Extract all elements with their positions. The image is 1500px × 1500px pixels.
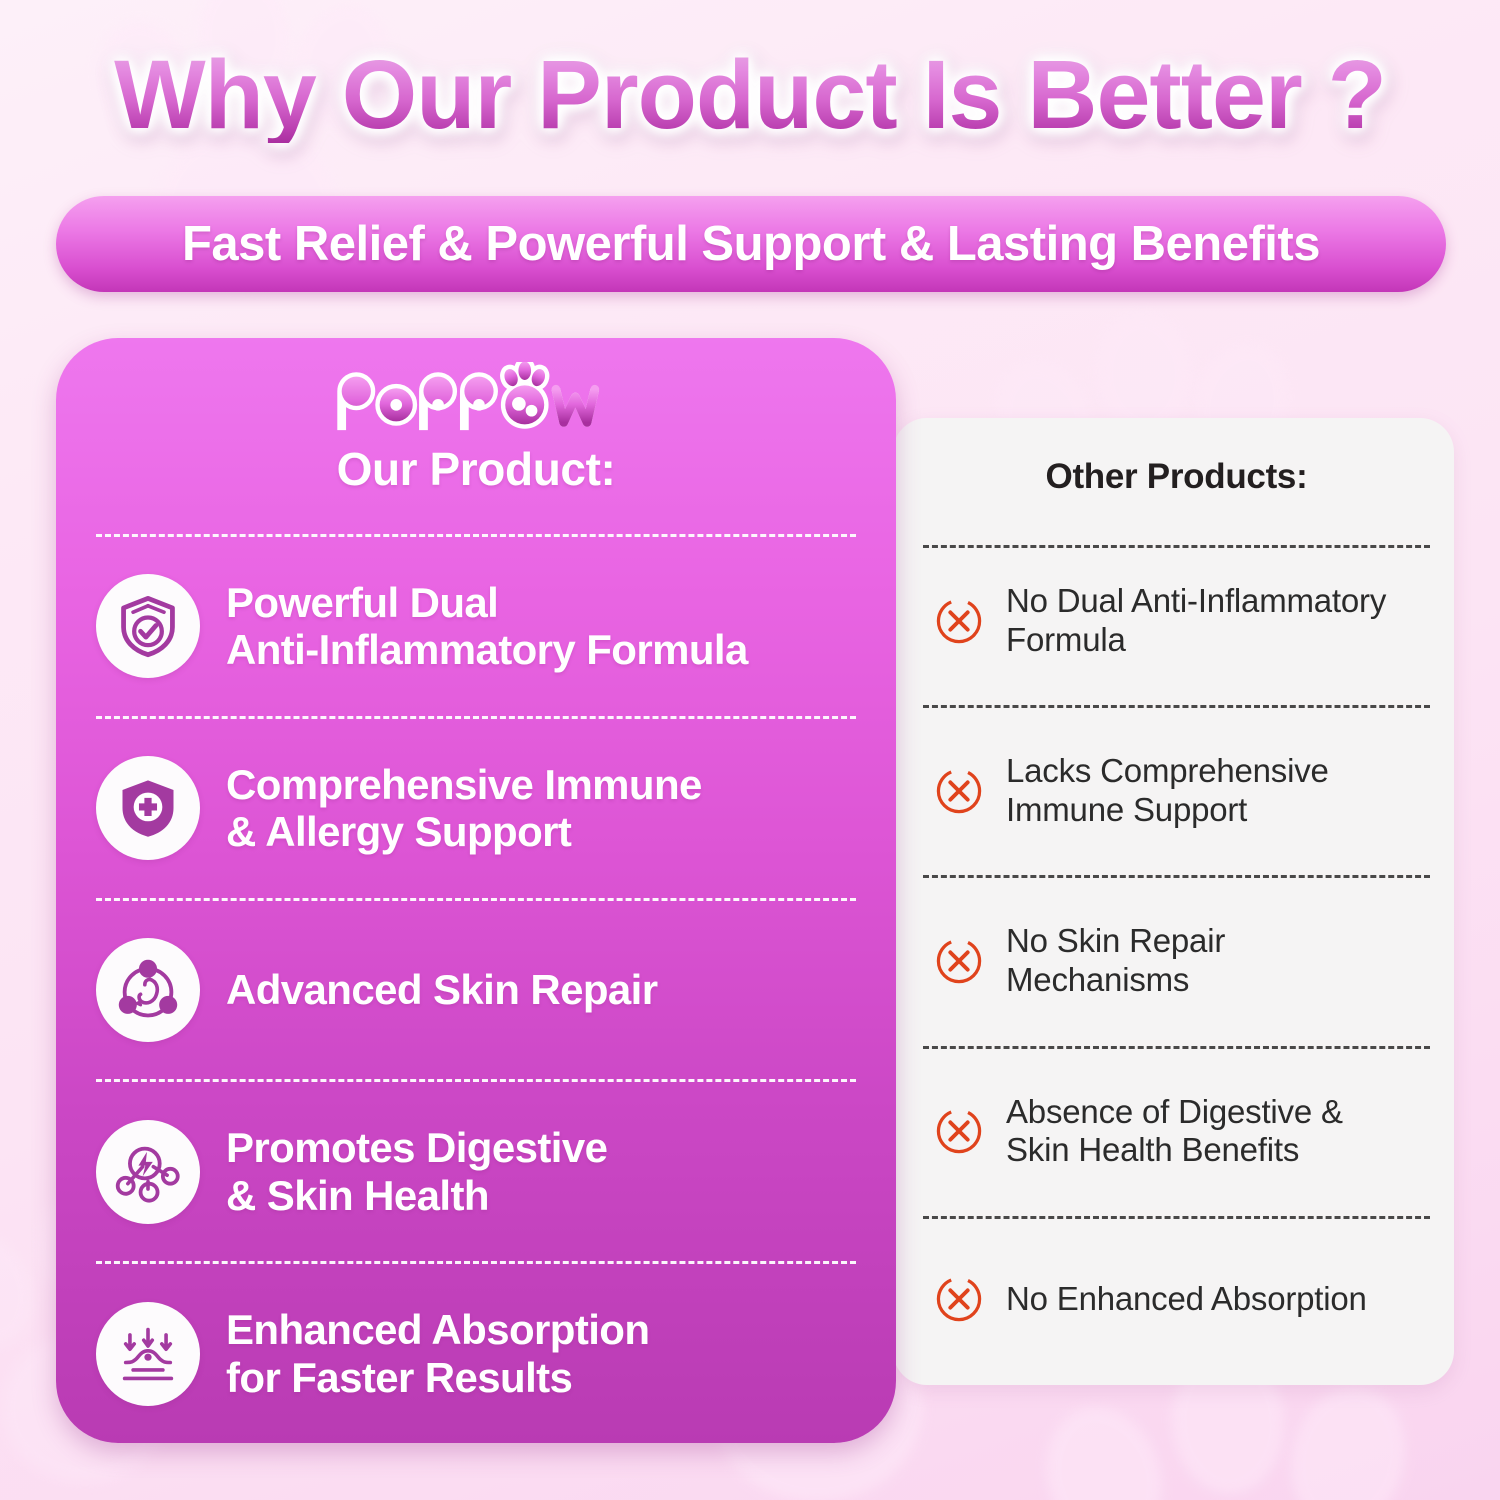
page-title: Why Our Product Is Better ? bbox=[0, 46, 1500, 143]
divider bbox=[923, 1216, 1430, 1219]
list-item: No Skin Repair Mechanisms bbox=[929, 922, 1424, 999]
list-item-label: Absence of Digestive & Skin Health Benef… bbox=[1006, 1093, 1343, 1170]
circle-x-icon bbox=[933, 1105, 985, 1157]
list-item: Powerful Dual Anti-Inflammatory Formula bbox=[96, 537, 856, 716]
our-product-icon bbox=[96, 938, 200, 1042]
list-item: Advanced Skin Repair bbox=[96, 901, 856, 1080]
divider bbox=[923, 875, 1430, 878]
list-item-line2: Anti-Inflammatory Formula bbox=[226, 626, 748, 673]
circle-x-icon bbox=[933, 935, 985, 987]
list-item-line2: Skin Health Benefits bbox=[1006, 1131, 1343, 1170]
circle-x-icon bbox=[933, 1273, 985, 1325]
list-item: Absence of Digestive & Skin Health Benef… bbox=[929, 1093, 1424, 1170]
list-item-line1: Powerful Dual bbox=[226, 579, 748, 626]
list-item-label: No Enhanced Absorption bbox=[1006, 1280, 1367, 1319]
our-product-icon bbox=[96, 756, 200, 860]
subtitle-text: Fast Relief & Powerful Support & Lasting… bbox=[182, 216, 1320, 272]
list-item-label: Lacks Comprehensive Immune Support bbox=[1006, 752, 1329, 829]
list-item-line1: Comprehensive Immune bbox=[226, 761, 702, 808]
our-product-card: Our Product: Powerful Dual Anti-In bbox=[56, 338, 896, 1443]
list-item-label: Powerful Dual Anti-Inflammatory Formula bbox=[226, 579, 748, 674]
circle-x-icon bbox=[933, 595, 985, 647]
our-product-icon bbox=[96, 1120, 200, 1224]
molecule-lightning-icon bbox=[114, 1138, 182, 1206]
divider bbox=[96, 534, 856, 537]
list-item-line2: & Allergy Support bbox=[226, 808, 702, 855]
comparison-infographic: Why Our Product Is Better ? Fast Relief … bbox=[0, 0, 1500, 1500]
list-item-line2: for Faster Results bbox=[226, 1354, 649, 1401]
our-product-title: Our Product: bbox=[96, 442, 856, 496]
our-product-list: Powerful Dual Anti-Inflammatory Formula … bbox=[96, 537, 856, 1443]
divider bbox=[923, 1046, 1430, 1049]
list-item-line2: Formula bbox=[1006, 621, 1386, 660]
list-item-line1: Enhanced Absorption bbox=[226, 1306, 649, 1353]
list-item: Enhanced Absorption for Faster Results bbox=[96, 1264, 856, 1443]
list-item-label: No Skin Repair Mechanisms bbox=[1006, 922, 1225, 999]
list-item-line1: Lacks Comprehensive bbox=[1006, 752, 1329, 791]
divider bbox=[923, 545, 1430, 548]
brand-logo bbox=[96, 362, 856, 436]
list-item-line1: Absence of Digestive & bbox=[1006, 1093, 1343, 1132]
list-item-line1: Promotes Digestive bbox=[226, 1124, 607, 1171]
list-item: Lacks Comprehensive Immune Support bbox=[929, 752, 1424, 829]
poppaw-logo-icon bbox=[330, 362, 622, 436]
list-item-line1: No Dual Anti-Inflammatory bbox=[1006, 582, 1386, 621]
absorption-arrows-icon bbox=[114, 1320, 182, 1388]
shield-check-icon bbox=[114, 592, 182, 660]
list-item-label: Promotes Digestive & Skin Health bbox=[226, 1124, 607, 1219]
divider bbox=[96, 898, 856, 901]
molecule-stomach-icon bbox=[114, 956, 182, 1024]
divider bbox=[96, 1079, 856, 1082]
list-item: No Dual Anti-Inflammatory Formula bbox=[929, 582, 1424, 659]
list-item-label: Advanced Skin Repair bbox=[226, 966, 657, 1013]
other-products-card: Other Products: No Dual Anti-Inflammator… bbox=[893, 418, 1454, 1385]
list-item-label: Enhanced Absorption for Faster Results bbox=[226, 1306, 649, 1401]
divider bbox=[96, 1261, 856, 1264]
list-item-line2: Immune Support bbox=[1006, 791, 1329, 830]
list-item-line1: No Skin Repair bbox=[1006, 922, 1225, 961]
other-products-list: No Dual Anti-Inflammatory Formula Lacks … bbox=[929, 548, 1424, 1325]
circle-x-icon bbox=[933, 765, 985, 817]
list-item-line1: Advanced Skin Repair bbox=[226, 966, 657, 1013]
subtitle-banner: Fast Relief & Powerful Support & Lasting… bbox=[56, 196, 1446, 292]
our-product-icon bbox=[96, 1302, 200, 1406]
list-item-line1: No Enhanced Absorption bbox=[1006, 1280, 1367, 1319]
other-products-title: Other Products: bbox=[929, 457, 1424, 497]
divider bbox=[923, 705, 1430, 708]
list-item-label: No Dual Anti-Inflammatory Formula bbox=[1006, 582, 1386, 659]
divider bbox=[96, 716, 856, 719]
list-item-line2: & Skin Health bbox=[226, 1172, 607, 1219]
our-product-icon bbox=[96, 574, 200, 678]
list-item: No Enhanced Absorption bbox=[929, 1273, 1424, 1325]
list-item: Promotes Digestive & Skin Health bbox=[96, 1082, 856, 1261]
list-item-line2: Mechanisms bbox=[1006, 961, 1225, 1000]
list-item: Comprehensive Immune & Allergy Support bbox=[96, 719, 856, 898]
list-item-label: Comprehensive Immune & Allergy Support bbox=[226, 761, 702, 856]
shield-medical-cross-icon bbox=[114, 774, 182, 842]
